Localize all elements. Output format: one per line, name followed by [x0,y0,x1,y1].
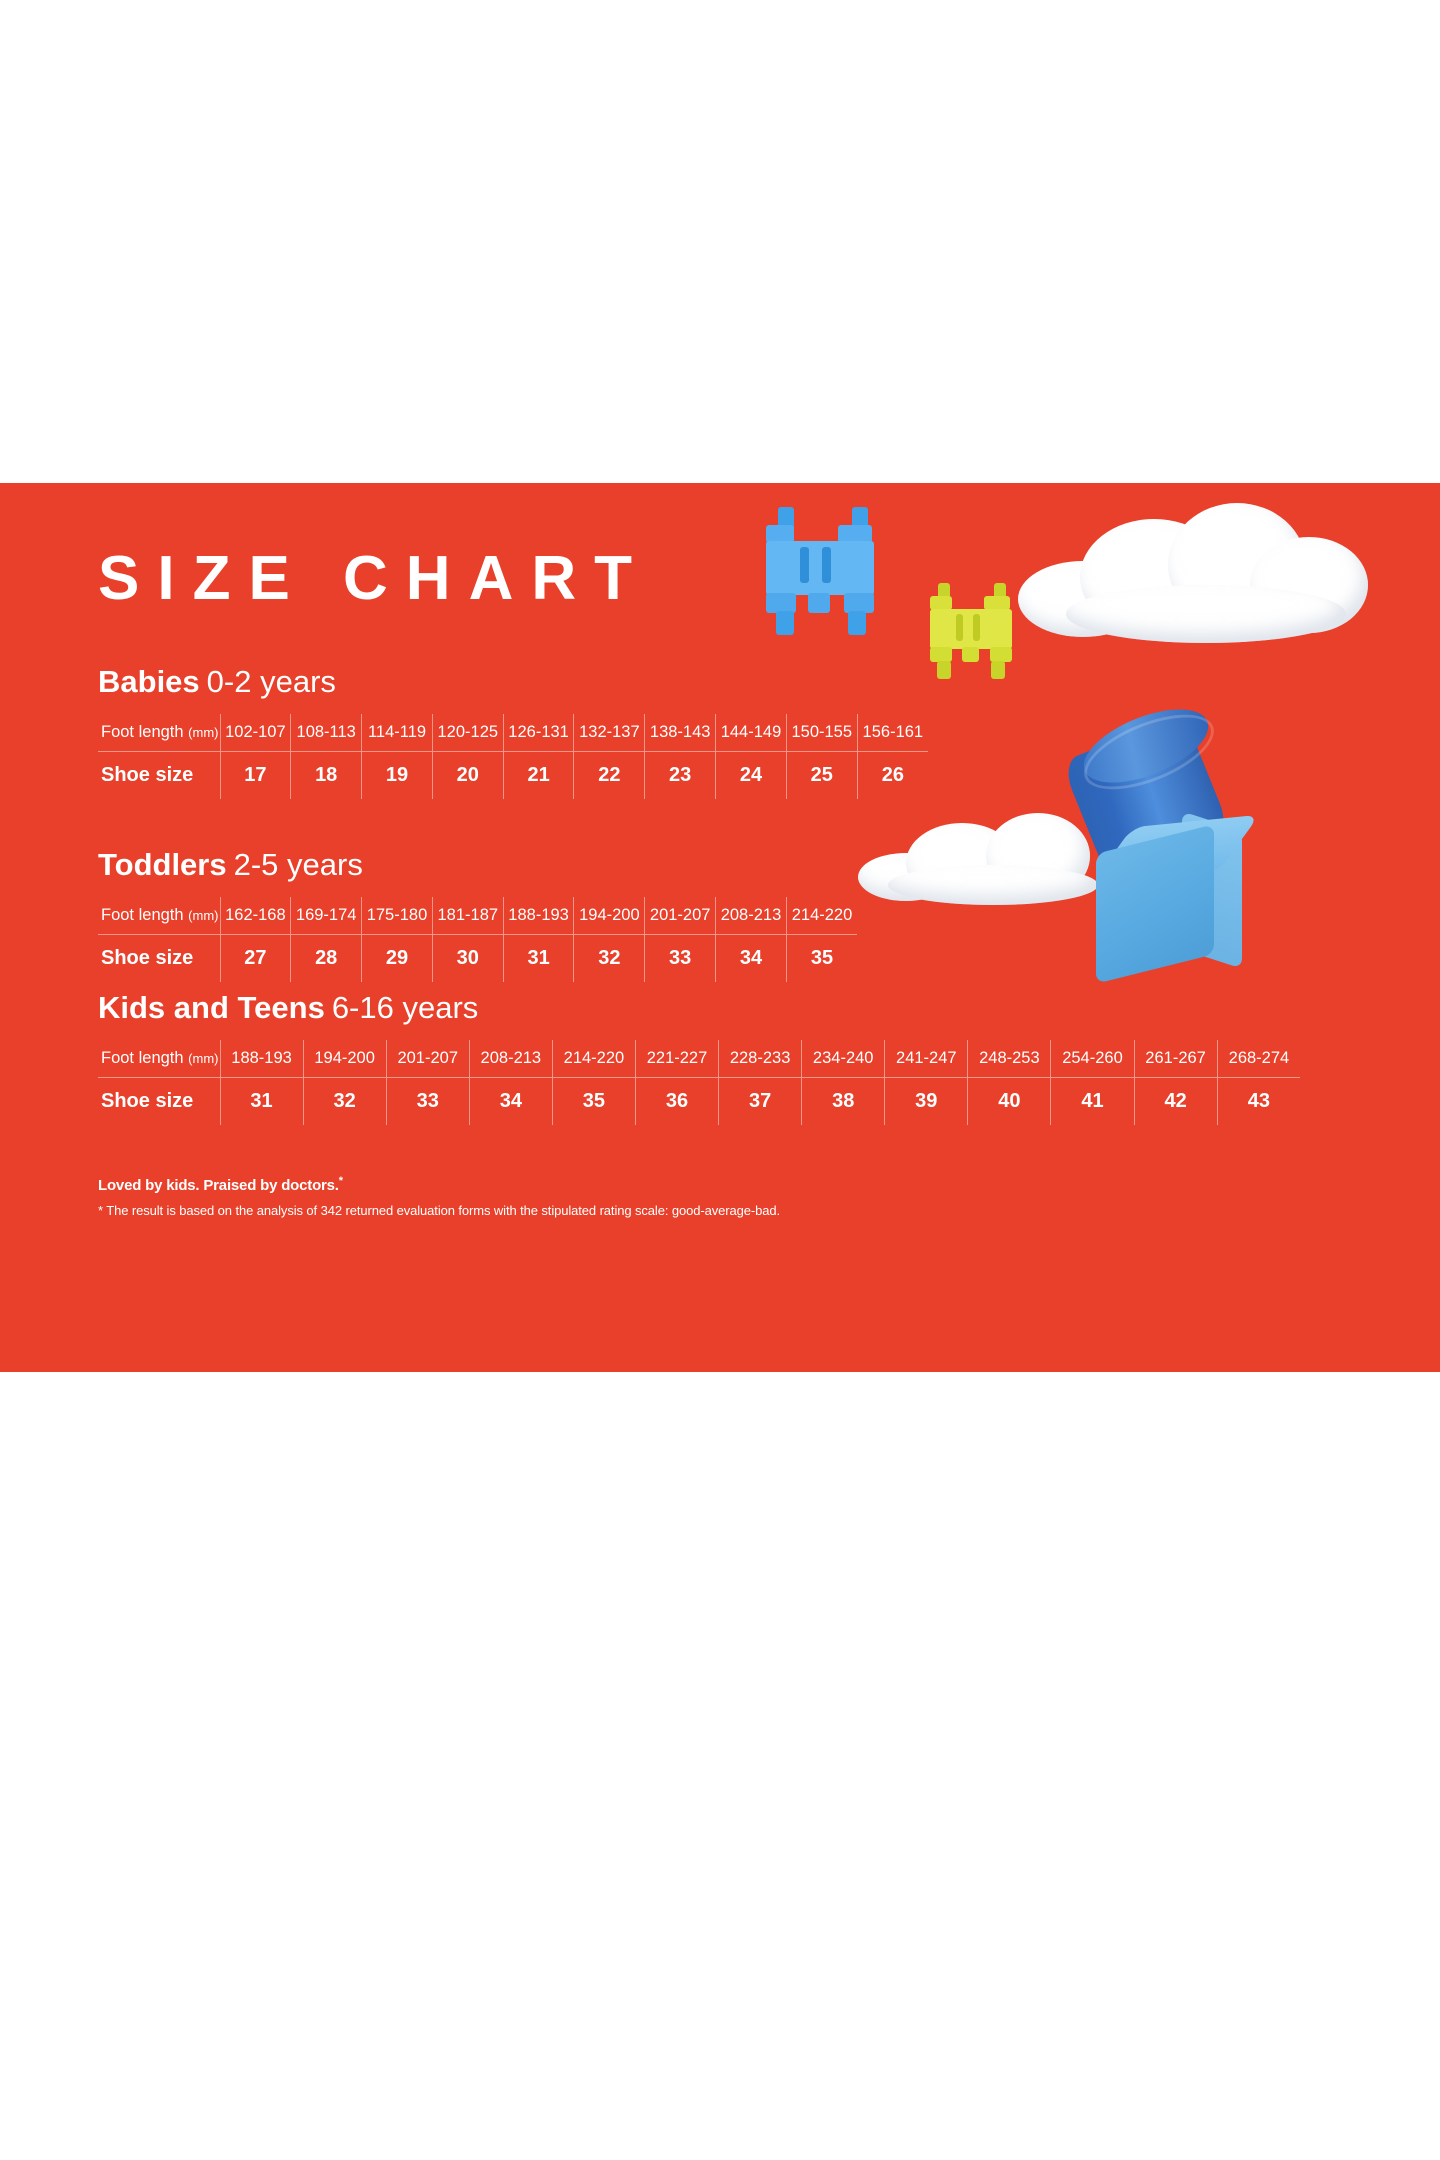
table-row-shoe-size: Shoe size 17 18 19 20 21 22 23 24 25 26 [98,752,928,800]
section-group-label: Kids and Teens [98,990,325,1025]
table-cell: 40 [968,1078,1051,1126]
row-label-foot-length: Foot length (mm) [98,1040,220,1078]
table-cell: 19 [362,752,433,800]
table-cell: 28 [291,935,362,983]
table-cell: 37 [719,1078,802,1126]
table-cell: 24 [716,752,787,800]
table-cell: 194-200 [574,897,645,935]
table-cell: 144-149 [716,714,787,752]
section-toddlers: Toddlers2-5 years Foot length (mm) 162-1… [98,849,857,982]
table-cell: 33 [386,1078,469,1126]
foot-length-unit: (mm) [188,1051,218,1066]
table-cell: 254-260 [1051,1040,1134,1078]
table-row-foot-length: Foot length (mm) 162-168 169-174 175-180… [98,897,857,935]
table-cell: 43 [1217,1078,1300,1126]
foot-length-text: Foot length [101,723,184,741]
pixel-invader-blue-icon [760,507,892,637]
table-cell: 30 [432,935,503,983]
table-cell: 33 [645,935,716,983]
table-row-shoe-size: Shoe size 31 32 33 34 35 36 37 38 39 40 … [98,1078,1300,1126]
table-cell: 188-193 [503,897,574,935]
table-cell: 36 [635,1078,718,1126]
table-cell: 138-143 [645,714,716,752]
table-cell: 214-220 [786,897,857,935]
toy-block-icon [1030,733,1330,973]
table-cell: 248-253 [968,1040,1051,1078]
red-panel: SIZE CHART Babies0-2 years Foot length (… [0,483,1440,1372]
table-cell: 22 [574,752,645,800]
table-cell: 114-119 [362,714,433,752]
table-cell: 35 [552,1078,635,1126]
table-cell: 34 [469,1078,552,1126]
size-chart-page: SIZE CHART Babies0-2 years Foot length (… [0,0,1440,2160]
footer-tagline: Loved by kids. Praised by doctors.* [98,1175,780,1195]
table-cell: 126-131 [503,714,574,752]
row-label-shoe-size: Shoe size [98,752,220,800]
table-cell: 181-187 [432,897,503,935]
cloud-icon-bottom [858,813,1118,903]
page-title: SIZE CHART [98,548,650,610]
size-table-kids-and-teens: Foot length (mm) 188-193 194-200 201-207… [98,1040,1300,1125]
section-babies: Babies0-2 years Foot length (mm) 102-107… [98,666,928,799]
table-cell: 20 [432,752,503,800]
table-cell: 32 [574,935,645,983]
table-cell: 17 [220,752,291,800]
table-cell: 39 [885,1078,968,1126]
cloud-icon-top [1018,503,1348,633]
table-cell: 241-247 [885,1040,968,1078]
footer: Loved by kids. Praised by doctors.* * Th… [98,1175,780,1219]
table-cell: 132-137 [574,714,645,752]
table-cell: 26 [857,752,928,800]
section-age-label: 2-5 years [234,847,363,882]
pixel-invader-yellow-icon [926,583,1026,683]
table-cell: 208-213 [469,1040,552,1078]
foot-length-text: Foot length [101,906,184,924]
size-table-toddlers: Foot length (mm) 162-168 169-174 175-180… [98,897,857,982]
section-age-label: 6-16 years [332,990,478,1025]
foot-length-unit: (mm) [188,908,218,923]
table-cell: 188-193 [220,1040,303,1078]
table-cell: 25 [786,752,857,800]
foot-length-unit: (mm) [188,725,218,740]
table-cell: 108-113 [291,714,362,752]
table-row-foot-length: Foot length (mm) 188-193 194-200 201-207… [98,1040,1300,1078]
table-cell: 162-168 [220,897,291,935]
table-cell: 21 [503,752,574,800]
row-label-shoe-size: Shoe size [98,1078,220,1126]
table-cell: 169-174 [291,897,362,935]
table-cell: 150-155 [786,714,857,752]
table-cell: 42 [1134,1078,1217,1126]
table-row-shoe-size: Shoe size 27 28 29 30 31 32 33 34 35 [98,935,857,983]
section-heading: Babies0-2 years [98,666,928,697]
row-label-foot-length: Foot length (mm) [98,714,220,752]
table-cell: 41 [1051,1078,1134,1126]
table-row-foot-length: Foot length (mm) 102-107 108-113 114-119… [98,714,928,752]
row-label-shoe-size: Shoe size [98,935,220,983]
section-group-label: Toddlers [98,847,227,882]
table-cell: 23 [645,752,716,800]
size-table-babies: Foot length (mm) 102-107 108-113 114-119… [98,714,928,799]
table-cell: 120-125 [432,714,503,752]
section-age-label: 0-2 years [207,664,336,699]
table-cell: 234-240 [802,1040,885,1078]
section-heading: Kids and Teens6-16 years [98,992,1300,1023]
table-cell: 31 [503,935,574,983]
table-cell: 35 [786,935,857,983]
table-cell: 201-207 [386,1040,469,1078]
section-kids-and-teens: Kids and Teens6-16 years Foot length (mm… [98,992,1300,1125]
table-cell: 31 [220,1078,303,1126]
table-cell: 29 [362,935,433,983]
foot-length-text: Foot length [101,1049,184,1067]
table-cell: 175-180 [362,897,433,935]
table-cell: 268-274 [1217,1040,1300,1078]
table-cell: 214-220 [552,1040,635,1078]
table-cell: 156-161 [857,714,928,752]
section-heading: Toddlers2-5 years [98,849,857,880]
table-cell: 102-107 [220,714,291,752]
footer-tagline-marker: * [339,1175,343,1187]
table-cell: 228-233 [719,1040,802,1078]
table-cell: 18 [291,752,362,800]
table-cell: 34 [716,935,787,983]
table-cell: 32 [303,1078,386,1126]
table-cell: 38 [802,1078,885,1126]
footer-note: * The result is based on the analysis of… [98,1203,780,1219]
table-cell: 27 [220,935,291,983]
table-cell: 221-227 [635,1040,718,1078]
section-group-label: Babies [98,664,200,699]
table-cell: 194-200 [303,1040,386,1078]
table-cell: 261-267 [1134,1040,1217,1078]
row-label-foot-length: Foot length (mm) [98,897,220,935]
table-cell: 201-207 [645,897,716,935]
footer-tagline-text: Loved by kids. Praised by doctors. [98,1177,339,1194]
table-cell: 208-213 [716,897,787,935]
